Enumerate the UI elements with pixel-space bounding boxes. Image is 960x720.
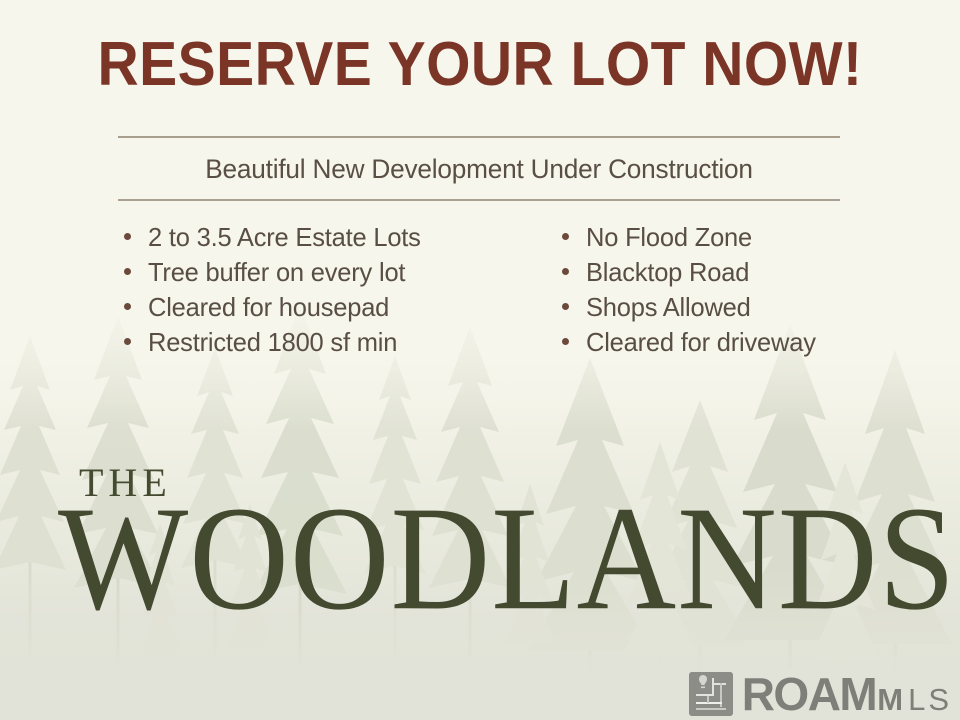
feature-label: Cleared for housepad bbox=[148, 292, 389, 323]
bullet-dot-icon bbox=[124, 338, 131, 345]
feature-label: Shops Allowed bbox=[586, 292, 751, 323]
logo-woodlands-text: WOODLANDS bbox=[58, 484, 956, 633]
feature-label: Restricted 1800 sf min bbox=[148, 327, 397, 358]
bullet-dot-icon bbox=[124, 303, 131, 310]
list-item: Shops Allowed bbox=[562, 292, 922, 327]
subtitle-text: Beautiful New Development Under Construc… bbox=[129, 138, 829, 199]
bullet-dot-icon bbox=[562, 303, 569, 310]
bullet-dot-icon bbox=[562, 268, 569, 275]
mls-ls: LS bbox=[908, 684, 952, 715]
bullet-dot-icon bbox=[562, 338, 569, 345]
subtitle-band: Beautiful New Development Under Construc… bbox=[118, 136, 840, 201]
list-item: 2 to 3.5 Acre Estate Lots bbox=[124, 222, 524, 257]
mls-m: M bbox=[877, 684, 903, 715]
divider-bottom bbox=[118, 199, 840, 201]
roam-floorplan-icon bbox=[689, 672, 733, 716]
feature-label: Blacktop Road bbox=[586, 257, 749, 288]
list-item: Blacktop Road bbox=[562, 257, 922, 292]
page-title: RESERVE YOUR LOT NOW! bbox=[38, 33, 921, 96]
roam-word: ROAM bbox=[742, 671, 877, 717]
list-item: Cleared for driveway bbox=[562, 327, 922, 362]
bullet-dot-icon bbox=[124, 233, 131, 240]
feature-label: Cleared for driveway bbox=[586, 327, 816, 358]
list-item: Restricted 1800 sf min bbox=[124, 327, 524, 362]
list-item: No Flood Zone bbox=[562, 222, 922, 257]
list-item: Tree buffer on every lot bbox=[124, 257, 524, 292]
feature-list-left: 2 to 3.5 Acre Estate Lots Tree buffer on… bbox=[124, 222, 524, 362]
feature-label: Tree buffer on every lot bbox=[148, 257, 405, 288]
flyer-canvas: RESERVE YOUR LOT NOW! Beautiful New Deve… bbox=[0, 0, 960, 720]
feature-list-right: No Flood Zone Blacktop Road Shops Allowe… bbox=[562, 222, 922, 362]
roam-mls-wordmark: ROAM M LS bbox=[742, 671, 952, 717]
roam-mls-logo: ROAM M LS bbox=[689, 671, 952, 717]
list-item: Cleared for housepad bbox=[124, 292, 524, 327]
feature-columns: 2 to 3.5 Acre Estate Lots Tree buffer on… bbox=[124, 222, 924, 362]
bullet-dot-icon bbox=[562, 233, 569, 240]
feature-label: No Flood Zone bbox=[586, 222, 752, 253]
bullet-dot-icon bbox=[124, 268, 131, 275]
feature-label: 2 to 3.5 Acre Estate Lots bbox=[148, 222, 421, 253]
